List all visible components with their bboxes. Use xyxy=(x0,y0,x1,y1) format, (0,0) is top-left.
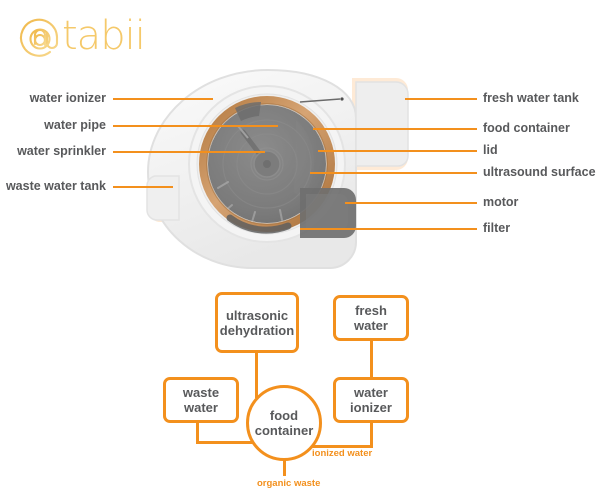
device-illustration-panel: water ionizer water pipe water sprinkler… xyxy=(0,60,600,275)
callout-waste-water-tank: waste water tank xyxy=(0,179,106,193)
callout-fresh-water-tank: fresh water tank xyxy=(483,91,579,105)
brand-name: tabii xyxy=(62,13,145,59)
callout-filter: filter xyxy=(483,221,510,235)
at-spiral-icon xyxy=(16,14,62,60)
flow-node-label: ultrasonicdehydration xyxy=(220,308,294,338)
leader-line-lid xyxy=(318,150,477,152)
leader-line-water-ionizer xyxy=(113,98,213,100)
edge-label-ionized-water: ionized water xyxy=(312,448,372,459)
callout-motor: motor xyxy=(483,195,518,209)
flow-node-label: foodcontainer xyxy=(255,408,314,438)
flow-node-waste-water[interactable]: wastewater xyxy=(163,377,239,423)
flow-node-label: freshwater xyxy=(354,303,388,333)
flow-node-fresh-water[interactable]: freshwater xyxy=(333,295,409,341)
callout-ultrasound-surface: ultrasound surface xyxy=(483,165,596,179)
connector-ultrasonic-to-food xyxy=(255,350,258,398)
edge-label-organic-waste: organic waste xyxy=(257,478,320,489)
leader-line-water-sprinkler xyxy=(113,151,265,153)
leader-line-ultrasound-surface xyxy=(310,172,477,174)
flow-node-ultrasonic-dehydration[interactable]: ultrasonicdehydration xyxy=(215,292,299,353)
flow-node-food-container[interactable]: foodcontainer xyxy=(246,385,322,461)
leader-line-fresh-water-tank xyxy=(405,98,477,100)
connector-ionizer-down xyxy=(370,420,373,448)
flow-node-label: waterionizer xyxy=(350,385,392,415)
process-flow-diagram: ultrasonicdehydration freshwater wastewa… xyxy=(0,280,600,501)
callout-water-sprinkler: water sprinkler xyxy=(0,144,106,158)
connector-waste-up xyxy=(196,420,199,444)
callout-food-container: food container xyxy=(483,121,570,135)
connector-food-to-waste xyxy=(196,441,258,444)
leader-line-water-pipe xyxy=(113,125,278,127)
callout-water-ionizer: water ionizer xyxy=(0,91,106,105)
connector-food-to-organic-waste xyxy=(283,460,286,476)
flow-node-label: wastewater xyxy=(183,385,219,415)
brand-logo: tabii xyxy=(16,10,196,62)
connector-fresh-to-ionizer xyxy=(370,338,373,380)
flow-node-water-ionizer[interactable]: waterionizer xyxy=(333,377,409,423)
leader-line-filter xyxy=(300,228,477,230)
callout-water-pipe: water pipe xyxy=(0,118,106,132)
leader-line-motor xyxy=(345,202,477,204)
callout-lid: lid xyxy=(483,143,498,157)
leader-line-food-container xyxy=(313,128,477,130)
leader-line-waste-water-tank xyxy=(113,186,173,188)
